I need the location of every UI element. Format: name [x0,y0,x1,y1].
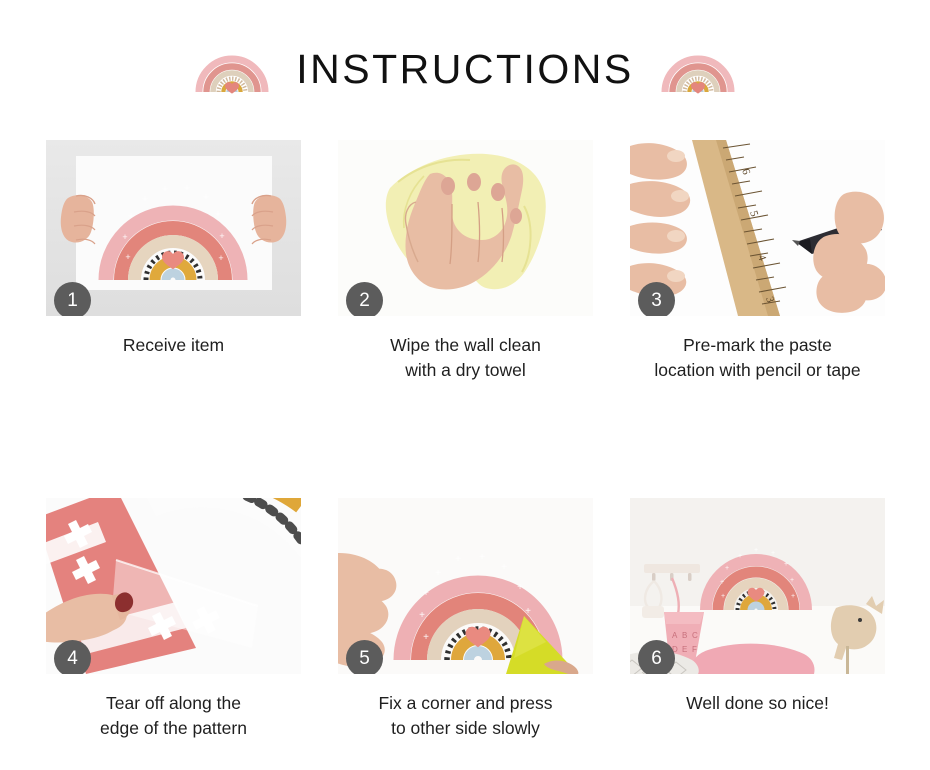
svg-text:+: + [784,561,788,568]
svg-text:B: B [682,631,687,640]
step-image-2: 2 [338,140,593,316]
svg-text:C: C [692,631,698,640]
rainbow-icon [660,44,736,94]
svg-text:+: + [517,582,523,593]
svg-text:+: + [184,183,189,193]
svg-text:+: + [423,588,429,599]
step-caption-2: Wipe the wall clean with a dry towel [338,333,593,384]
svg-text:+: + [720,579,724,586]
step-number-badge: 6 [638,640,675,674]
step-number-badge: 5 [346,640,383,674]
svg-text:F: F [692,645,697,654]
caption-line: location with pencil or tape [630,358,885,383]
svg-text:E: E [682,645,687,654]
svg-text:+: + [203,192,208,202]
instructions-page: INSTRUCTIONS [0,0,930,770]
page-title: INSTRUCTIONS [296,49,634,90]
svg-text:+: + [754,547,758,554]
page-header: INSTRUCTIONS [0,34,930,104]
step-image-5: +++ +++ +++ + [338,498,593,674]
caption-line: to other side slowly [338,716,593,741]
step-card-6: +++ +++ +++ [630,498,885,742]
svg-text:+: + [725,565,729,572]
svg-text:+: + [525,606,531,617]
svg-text:+: + [455,554,461,565]
caption-line: Pre-mark the paste [630,333,885,358]
caption-line: Receive item [46,333,301,358]
svg-text:+: + [419,610,425,621]
step-caption-6: Well done so nice! [630,691,885,716]
caption-line: Wipe the wall clean [338,333,593,358]
svg-text:+: + [721,593,725,600]
svg-text:+: + [219,231,224,241]
caption-line: with a dry towel [338,358,593,383]
step-number-badge: 2 [346,282,383,316]
svg-text:+: + [122,232,127,242]
rainbow-icon [194,44,270,94]
step-image-6: +++ +++ +++ [630,498,885,674]
step-caption-1: Receive item [46,333,301,358]
svg-text:+: + [162,184,167,194]
svg-text:+: + [142,194,147,204]
svg-text:+: + [738,553,742,560]
svg-text:+: + [791,593,795,600]
svg-text:+: + [128,211,133,221]
caption-line: Well done so nice! [630,691,885,716]
svg-text:+: + [423,632,429,643]
svg-text:A: A [672,631,678,640]
svg-text:+: + [771,550,775,557]
step-caption-3: Pre-mark the paste location with pencil … [630,333,885,384]
svg-text:+: + [125,252,130,262]
steps-grid: +++ +++ +++ + [46,140,886,742]
step-image-3: 6 5 4 3 [630,140,885,316]
step-image-1: +++ +++ +++ + [46,140,301,316]
step-number-badge: 4 [54,640,91,674]
step-card-2: 2 Wipe the wall clean with a dry towel [338,140,593,384]
step-number-badge: 1 [54,282,91,316]
step-image-4: 4 [46,498,301,674]
svg-text:+: + [479,552,485,563]
caption-line: edge of the pattern [46,716,301,741]
svg-text:+: + [218,253,223,263]
step-number-badge: 3 [638,282,675,316]
step-card-1: +++ +++ +++ + [46,140,301,384]
step-caption-5: Fix a corner and press to other side slo… [338,691,593,742]
step-card-3: 6 5 4 3 [630,140,885,384]
svg-text:+: + [215,209,220,219]
svg-text:+: + [501,562,507,573]
svg-text:+: + [790,577,794,584]
caption-line: Fix a corner and press [338,691,593,716]
step-card-4: 4 Tear off along the edge of the pattern [46,498,301,742]
step-card-5: +++ +++ +++ + [338,498,593,742]
caption-line: Tear off along the [46,691,301,716]
step-caption-4: Tear off along the edge of the pattern [46,691,301,742]
svg-text:+: + [435,568,441,579]
